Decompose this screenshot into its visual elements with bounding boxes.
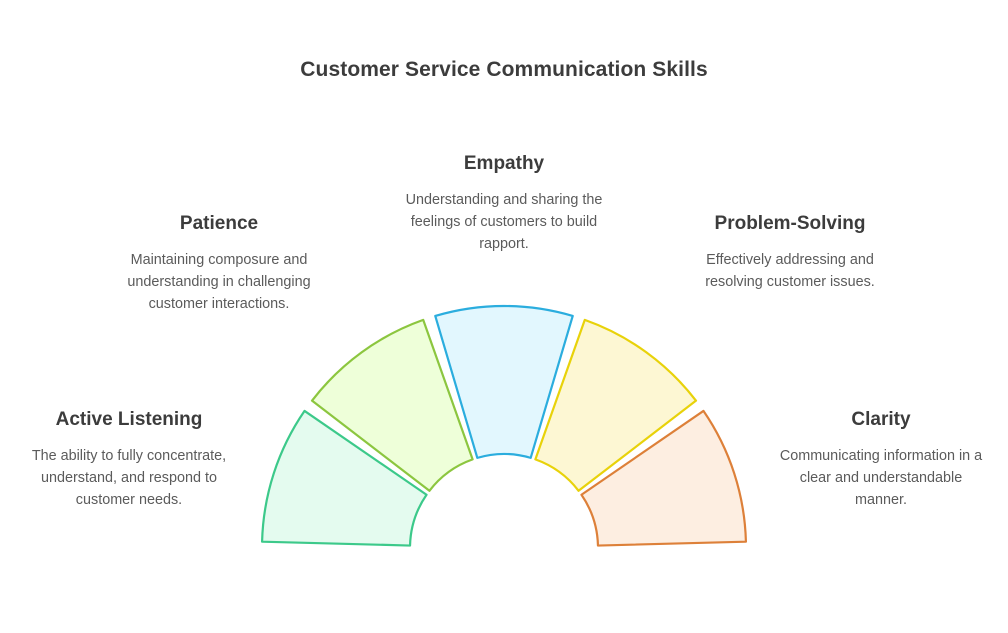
page-title: Customer Service Communication Skills xyxy=(0,58,1008,82)
node-patience: Patience Maintaining composure and under… xyxy=(104,212,334,316)
node-active-listening: Active Listening The ability to fully co… xyxy=(18,408,240,512)
node-description-patience: Maintaining composure and understanding … xyxy=(104,249,334,316)
node-title-clarity: Clarity xyxy=(772,408,990,432)
fan-segments xyxy=(262,306,746,546)
node-description-active-listening: The ability to fully concentrate, unders… xyxy=(18,445,240,512)
infographic-canvas: Customer Service Communication Skills Ac… xyxy=(0,0,1008,633)
node-empathy: Empathy Understanding and sharing the fe… xyxy=(396,152,612,256)
node-description-clarity: Communicating information in a clear and… xyxy=(772,445,990,512)
fan-chart xyxy=(248,296,760,562)
node-title-empathy: Empathy xyxy=(396,152,612,176)
fan-chart-svg xyxy=(248,296,760,562)
node-title-problem-solving: Problem-Solving xyxy=(676,212,904,236)
node-title-active-listening: Active Listening xyxy=(18,408,240,432)
node-problem-solving: Problem-Solving Effectively addressing a… xyxy=(676,212,904,293)
node-title-patience: Patience xyxy=(104,212,334,236)
node-description-empathy: Understanding and sharing the feelings o… xyxy=(396,189,612,256)
node-clarity: Clarity Communicating information in a c… xyxy=(772,408,990,512)
node-description-problem-solving: Effectively addressing and resolving cus… xyxy=(676,249,904,294)
